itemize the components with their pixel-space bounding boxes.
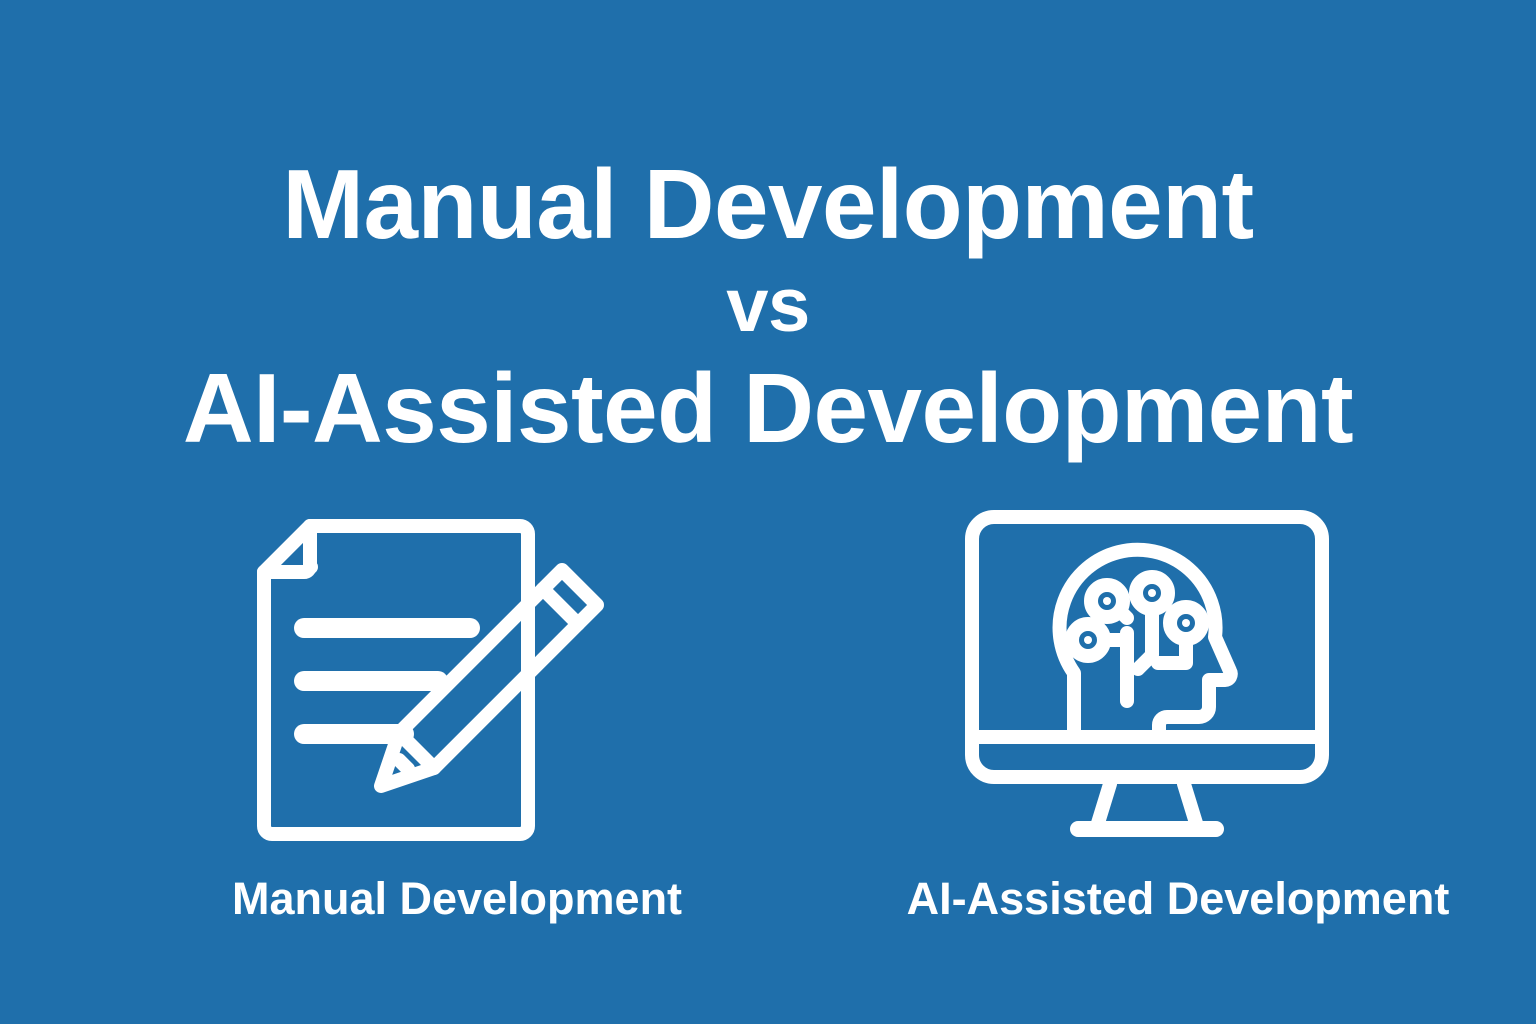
ai-assisted-development-icon-slot [962,505,1332,855]
monitor-with-ai-brain-icon [962,505,1332,855]
title-line-manual: Manual Development [0,148,1536,260]
document-with-pencil-icon [248,505,638,855]
caption-ai-assisted-development: AI-Assisted Development [820,868,1536,930]
comparison-slide: Manual Development vs AI-Assisted Develo… [0,0,1536,1024]
caption-manual-development: Manual Development [0,868,914,930]
icons-row [0,505,1536,855]
manual-development-icon-slot [248,505,638,855]
page-title: Manual Development vs AI-Assisted Develo… [0,148,1536,464]
captions-row: Manual Development AI-Assisted Developme… [0,868,1536,938]
title-line-ai-assisted: AI-Assisted Development [0,352,1536,464]
title-line-vs: vs [0,260,1536,352]
